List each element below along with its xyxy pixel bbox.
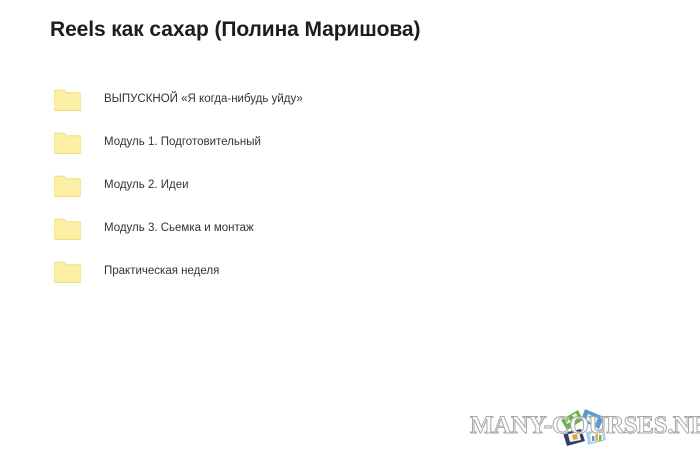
folder-icon (54, 217, 81, 240)
list-item-label: Модуль 3. Сьемка и монтаж (104, 221, 254, 235)
list-item[interactable]: Модуль 2. Идеи (54, 172, 614, 198)
list-item-label: ВЫПУСКНОЙ «Я когда-нибудь уйду» (104, 92, 303, 106)
list-item[interactable]: ВЫПУСКНОЙ «Я когда-нибудь уйду» (54, 86, 614, 112)
page-title: Reels как сахар (Полина Маришова) (50, 18, 420, 42)
folder-icon (54, 174, 81, 197)
list-item[interactable]: Модуль 3. Сьемка и монтаж (54, 215, 614, 241)
list-item-label: Модуль 2. Идеи (104, 178, 189, 192)
watermark: MANY-COURSES.NET (470, 396, 698, 460)
folder-list: ВЫПУСКНОЙ «Я когда-нибудь уйду» Модуль 1… (54, 86, 614, 301)
list-item[interactable]: Модуль 1. Подготовительный (54, 129, 614, 155)
list-item-label: Модуль 1. Подготовительный (104, 135, 261, 149)
folder-icon (54, 88, 81, 111)
list-item-label: Практическая неделя (104, 264, 219, 278)
folder-icon (54, 131, 81, 154)
watermark-text: MANY-COURSES.NET (470, 412, 698, 440)
page-canvas: Reels как сахар (Полина Маришова) ВЫПУСК… (0, 0, 700, 463)
folder-icon (54, 260, 81, 283)
list-item[interactable]: Практическая неделя (54, 258, 614, 284)
